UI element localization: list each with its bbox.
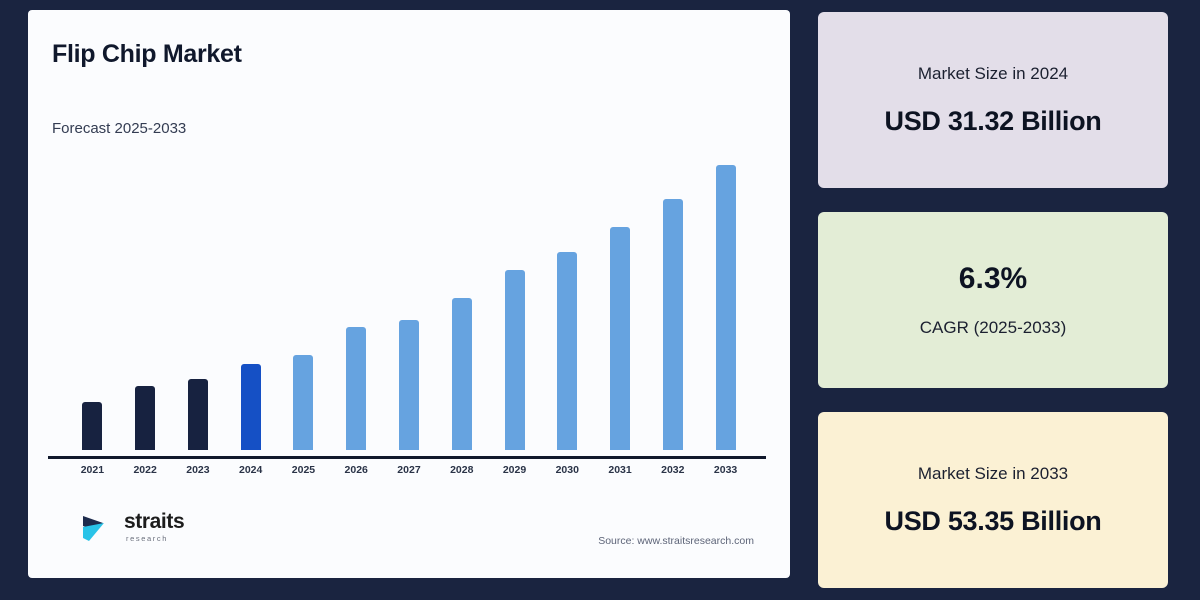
bar-2028 — [452, 298, 472, 450]
bar-slot — [66, 160, 119, 450]
stat-card-list: Market Size in 2024USD 31.32 Billion6.3%… — [818, 12, 1168, 588]
x-label-2030: 2030 — [541, 464, 594, 476]
logo-subtext: research — [126, 535, 184, 543]
source-note: Source: www.straitsresearch.com — [598, 535, 754, 547]
bar-2030 — [557, 252, 577, 450]
bar-slot — [172, 160, 225, 450]
chart-panel: Flip Chip Market Forecast 2025-2033 2021… — [28, 10, 790, 578]
bar-slot — [224, 160, 277, 450]
bar-2027 — [399, 320, 419, 450]
x-label-2032: 2032 — [646, 464, 699, 476]
x-label-2033: 2033 — [699, 464, 752, 476]
bar-slot — [435, 160, 488, 450]
bar-2021 — [82, 402, 102, 450]
x-label-2028: 2028 — [435, 464, 488, 476]
stat-card-value: USD 53.35 Billion — [885, 506, 1102, 537]
stat-card-label: Market Size in 2024 — [918, 64, 1068, 84]
stat-card-value: 6.3% — [959, 262, 1027, 296]
stat-card-2: 6.3%CAGR (2025-2033) — [818, 212, 1168, 388]
bar-2029 — [505, 270, 525, 450]
bar-series — [48, 160, 770, 450]
bar-2024 — [241, 364, 261, 450]
bar-slot — [594, 160, 647, 450]
x-label-2029: 2029 — [488, 464, 541, 476]
stat-card-1: Market Size in 2024USD 31.32 Billion — [818, 12, 1168, 188]
logo-wordmark: straits research — [124, 511, 184, 543]
bar-chart-plot — [48, 160, 770, 450]
bar-slot — [541, 160, 594, 450]
bar-2033 — [716, 165, 736, 450]
straits-logo-icon — [80, 510, 116, 544]
bar-slot — [277, 160, 330, 450]
logo-name: straits — [124, 511, 184, 532]
x-label-2031: 2031 — [594, 464, 647, 476]
bar-2025 — [293, 355, 313, 450]
bar-2023 — [188, 379, 208, 450]
bar-slot — [488, 160, 541, 450]
x-label-2027: 2027 — [383, 464, 436, 476]
bar-slot — [699, 160, 752, 450]
x-label-2026: 2026 — [330, 464, 383, 476]
stat-card-value: USD 31.32 Billion — [885, 106, 1102, 137]
x-axis-line — [48, 456, 766, 459]
x-label-2022: 2022 — [119, 464, 172, 476]
bar-slot — [119, 160, 172, 450]
stat-card-label: CAGR (2025-2033) — [920, 318, 1066, 338]
bar-2032 — [663, 199, 683, 450]
bar-2022 — [135, 386, 155, 450]
x-label-2023: 2023 — [172, 464, 225, 476]
page-title: Flip Chip Market — [52, 40, 242, 69]
bar-slot — [330, 160, 383, 450]
stat-card-label: Market Size in 2033 — [918, 464, 1068, 484]
x-label-2025: 2025 — [277, 464, 330, 476]
bar-2026 — [346, 327, 366, 450]
panel-subtitle: Forecast 2025-2033 — [52, 120, 186, 137]
stat-card-3: Market Size in 2033USD 53.35 Billion — [818, 412, 1168, 588]
x-label-2021: 2021 — [66, 464, 119, 476]
x-axis-tick-labels: 2021202220232024202520262027202820292030… — [48, 464, 770, 476]
infographic-root: Flip Chip Market Forecast 2025-2033 2021… — [0, 0, 1200, 600]
brand-logo: straits research — [80, 510, 184, 544]
bar-slot — [646, 160, 699, 450]
x-label-2024: 2024 — [224, 464, 277, 476]
bar-2031 — [610, 227, 630, 450]
bar-slot — [383, 160, 436, 450]
